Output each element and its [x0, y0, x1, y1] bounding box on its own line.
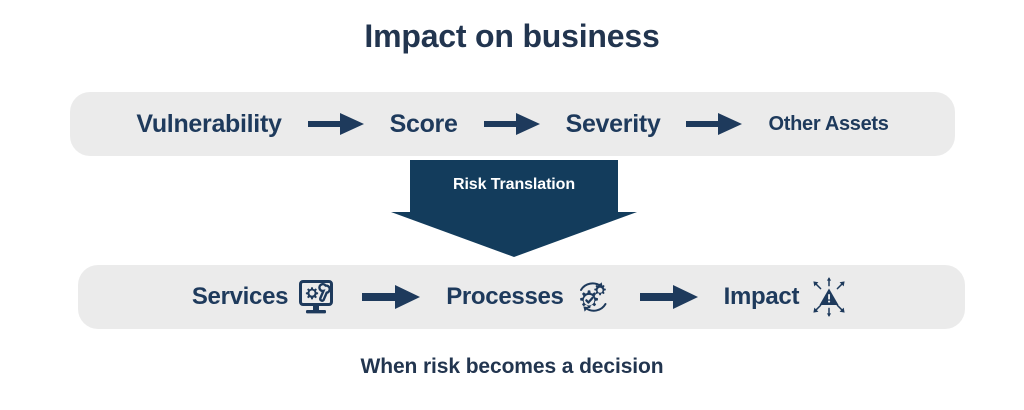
bottom-flow-container: Services: [78, 265, 965, 329]
flow-node-other-assets[interactable]: Other Assets: [768, 113, 888, 136]
risk-translation-arrow: [391, 160, 637, 257]
bottom-flow: Services: [78, 265, 965, 329]
page-caption: When risk becomes a decision: [0, 355, 1024, 379]
arrow-right-icon: [686, 110, 742, 138]
flow-node-label: Severity: [566, 110, 661, 139]
flow-node-services[interactable]: Services: [192, 277, 336, 317]
arrow-right-icon: [640, 283, 698, 311]
flow-node-severity[interactable]: Severity: [566, 110, 661, 139]
top-flow-container: Vulnerability Score Severity: [70, 92, 955, 156]
diagram-canvas: Impact on business Vulnerability Score S…: [0, 0, 1024, 410]
top-flow: Vulnerability Score Severity: [70, 92, 955, 156]
arrow-right-icon: [484, 110, 540, 138]
flow-node-label: Other Assets: [768, 113, 888, 136]
flow-node-processes[interactable]: Processes: [446, 276, 613, 318]
monitor-gear-wrench-icon: [296, 277, 336, 317]
gears-check-icon: [572, 276, 614, 318]
flow-node-label: Impact: [724, 283, 800, 311]
arrow-right-icon: [362, 283, 420, 311]
arrow-right-icon: [308, 110, 364, 138]
flow-node-label: Score: [390, 110, 458, 139]
page-title: Impact on business: [0, 18, 1024, 55]
flow-node-label: Vulnerability: [136, 110, 281, 139]
flow-node-label: Processes: [446, 283, 563, 311]
flow-node-score[interactable]: Score: [390, 110, 458, 139]
warning-triangle-radiating-icon: [807, 275, 851, 319]
flow-node-label: Services: [192, 283, 288, 311]
flow-node-impact[interactable]: Impact: [724, 275, 852, 319]
flow-node-vulnerability[interactable]: Vulnerability: [136, 110, 281, 139]
